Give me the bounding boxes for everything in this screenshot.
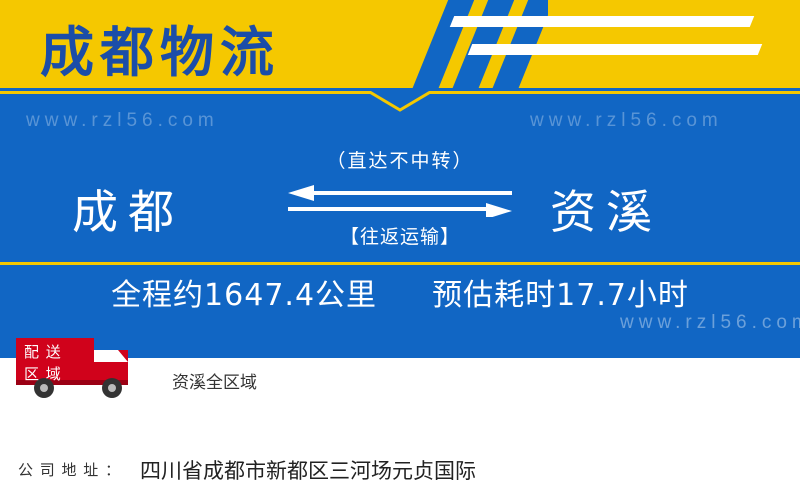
watermark: www.rzl56.com bbox=[530, 110, 723, 132]
header-stripe-white-2 bbox=[468, 44, 762, 55]
route-stats: 全程约1647.4公里 预估耗时17.7小时 bbox=[0, 270, 800, 314]
delivery-badge-line2: 区 域 bbox=[24, 363, 62, 384]
double-arrow-icon bbox=[288, 185, 512, 217]
page-title: 成都物流 bbox=[40, 8, 280, 87]
address-value: 四川省成都市新都区三河场元贞国际 bbox=[140, 455, 476, 485]
watermark: www.rzl56.com bbox=[26, 110, 219, 132]
divider-bottom bbox=[0, 262, 800, 265]
watermark: www.rzl56.com bbox=[620, 312, 800, 334]
coverage-text: 资溪全区域 bbox=[172, 368, 257, 393]
address-label: 公 司 地 址 ： bbox=[18, 459, 121, 480]
origin-city: 成都 bbox=[72, 176, 184, 242]
roundtrip-note: 【往返运输】 bbox=[290, 222, 510, 249]
distance-text: 全程约1647.4公里 bbox=[111, 278, 377, 313]
destination-city: 资溪 bbox=[550, 176, 662, 242]
direct-service-note: （直达不中转） bbox=[290, 146, 510, 173]
delivery-badge-line1: 配 送 bbox=[24, 341, 62, 362]
duration-text: 预估耗时17.7小时 bbox=[432, 278, 689, 313]
logistics-banner: 成都物流 www.rzl56.com www.rzl56.com www.rzl… bbox=[0, 0, 800, 500]
chevron-down-icon bbox=[368, 91, 432, 113]
header-stripe-white-1 bbox=[450, 16, 754, 27]
